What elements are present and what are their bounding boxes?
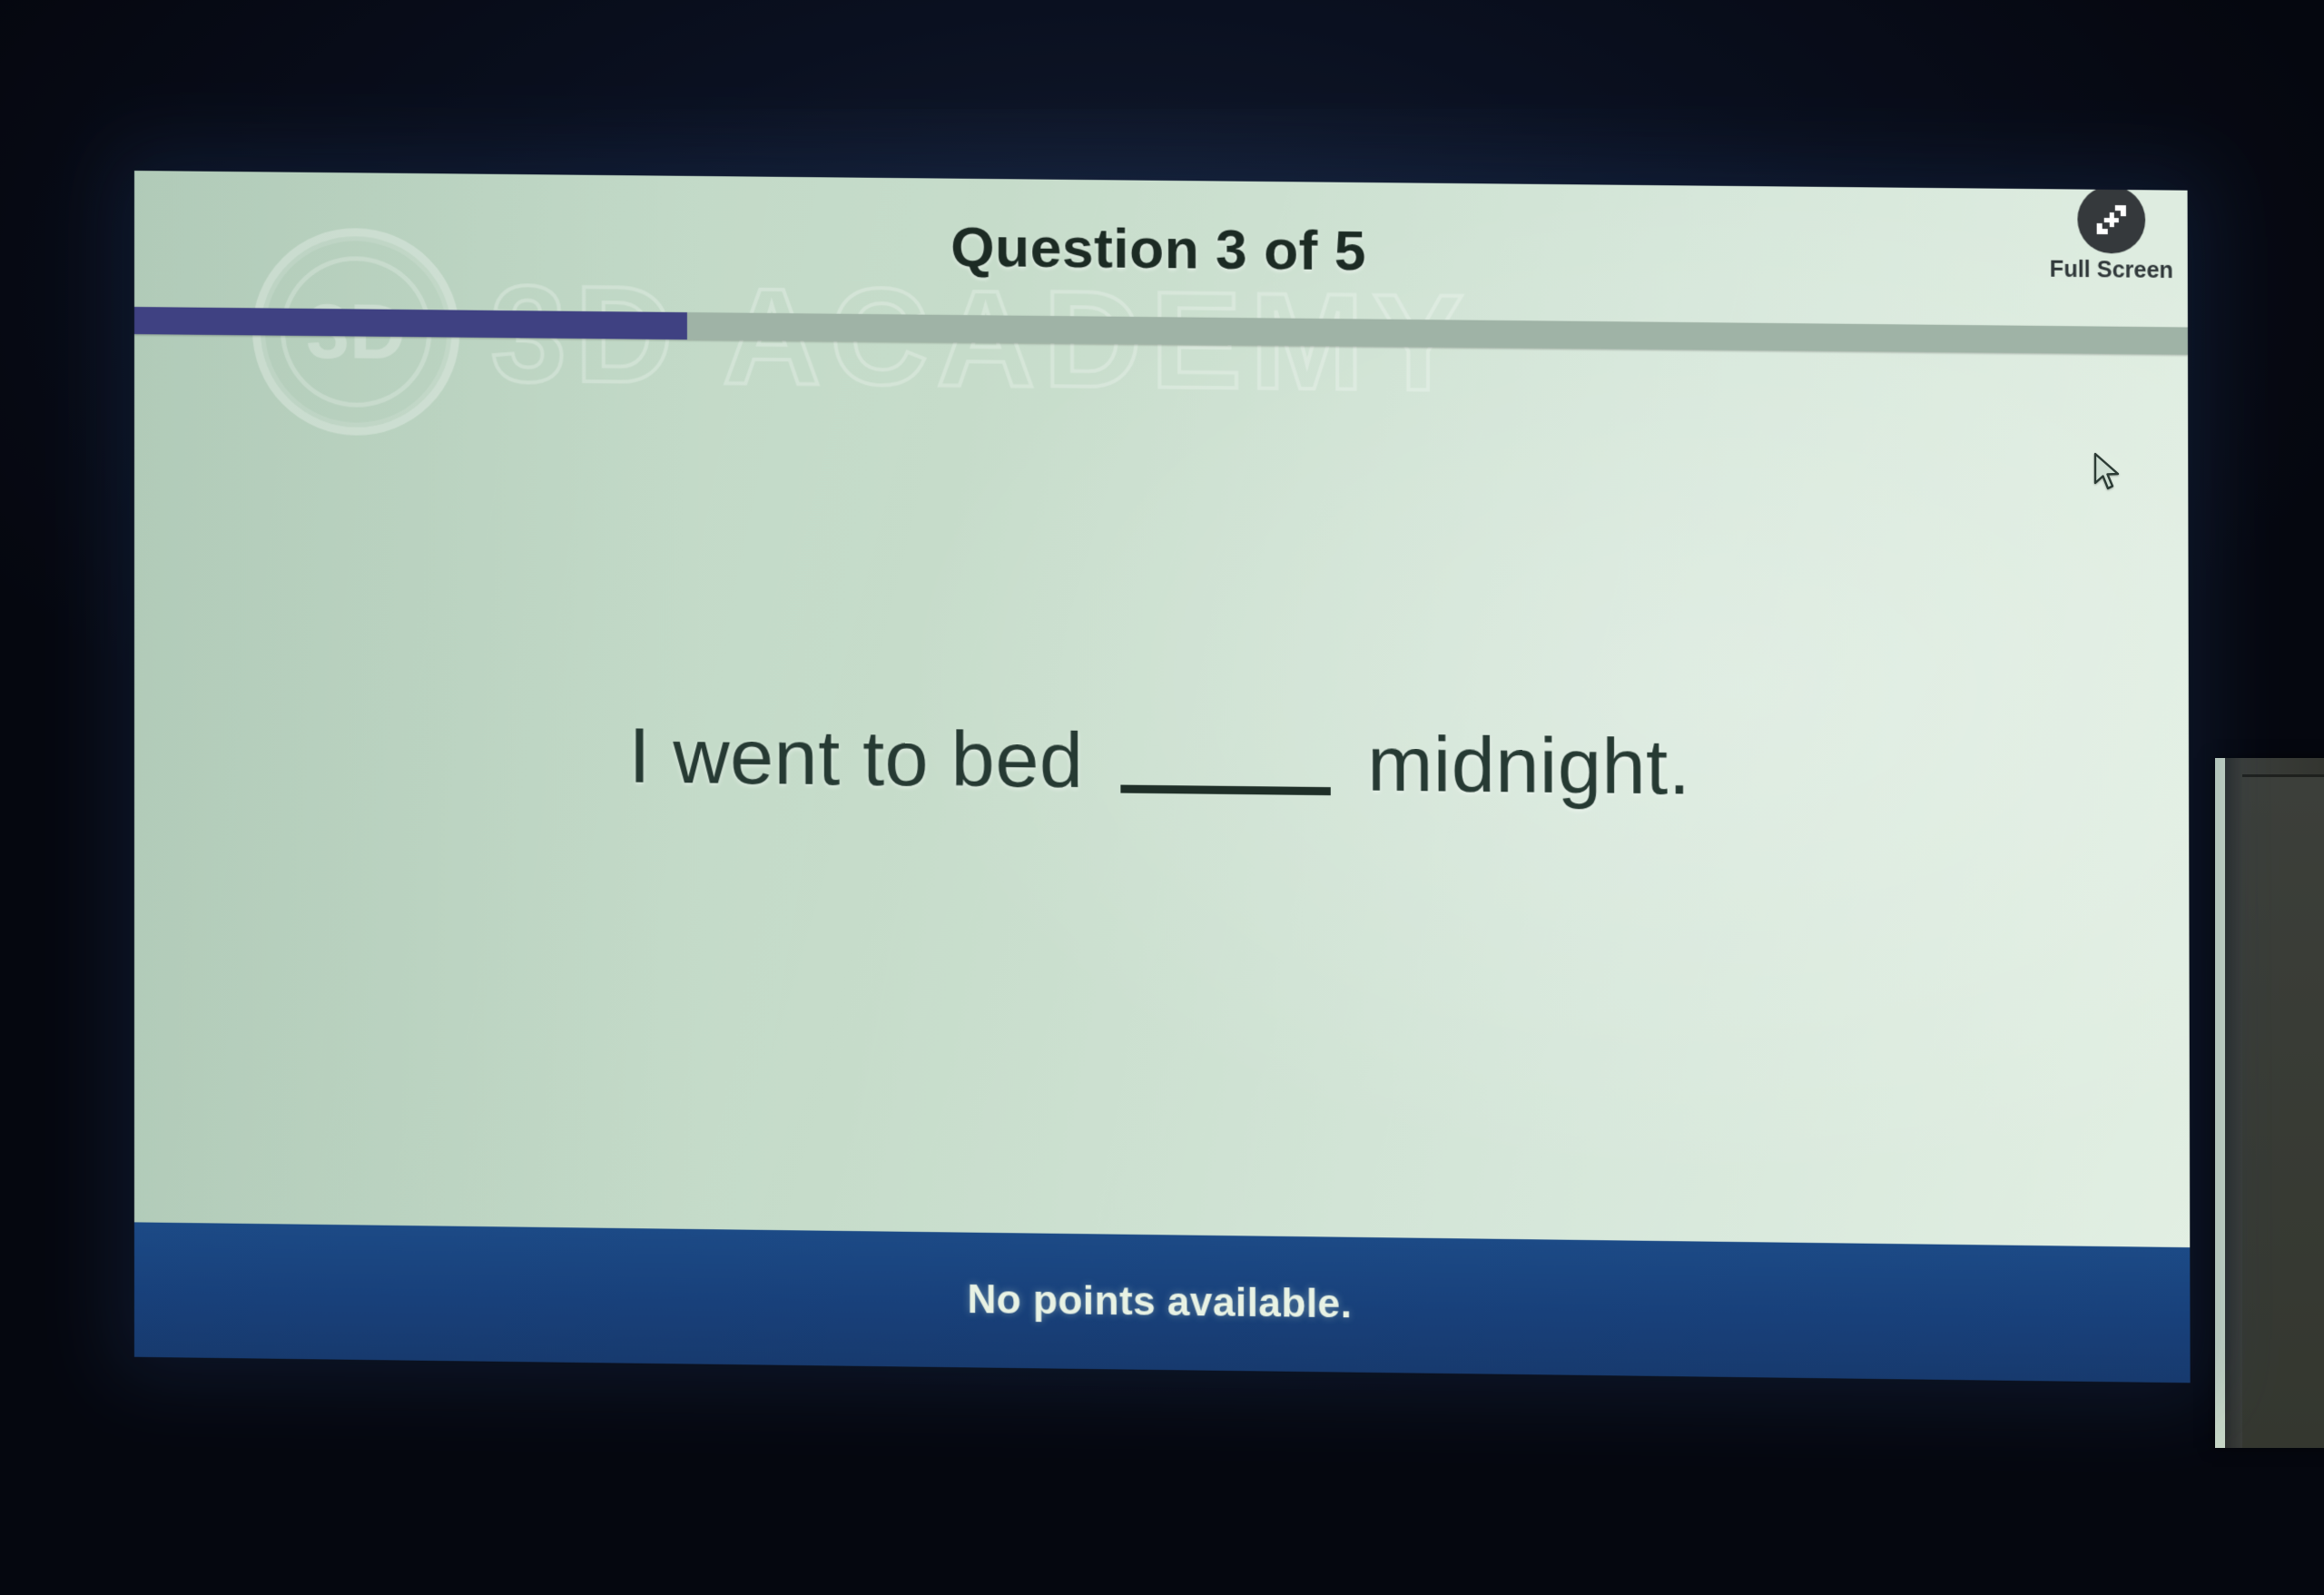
question-blank-field (1120, 734, 1330, 795)
points-status-text: No points available. (967, 1277, 1352, 1328)
question-body: I went to bed midnight. (134, 334, 2190, 1247)
slide-header: Question 3 of 5 Full Screen (134, 171, 2188, 328)
fullscreen-label[interactable]: Full Screen (2050, 257, 2173, 284)
right-side-board-object (2215, 758, 2324, 1448)
question-suffix: midnight. (1367, 720, 1690, 811)
quiz-slide: 3D 3D ACADEMY Question 3 of 5 Full Scree… (134, 171, 2191, 1383)
expand-arrows-icon[interactable] (2077, 186, 2145, 254)
question-prefix: I went to bed (628, 712, 1083, 804)
page-title: Question 3 of 5 (950, 214, 1366, 283)
fullscreen-button[interactable]: Full Screen (2043, 185, 2181, 284)
slide-footer: No points available. (134, 1222, 2191, 1383)
board-inner-edge (2242, 774, 2324, 1448)
projection-screen: 3D 3D ACADEMY Question 3 of 5 Full Scree… (134, 171, 2191, 1383)
question-text: I went to bed midnight. (628, 707, 1690, 817)
